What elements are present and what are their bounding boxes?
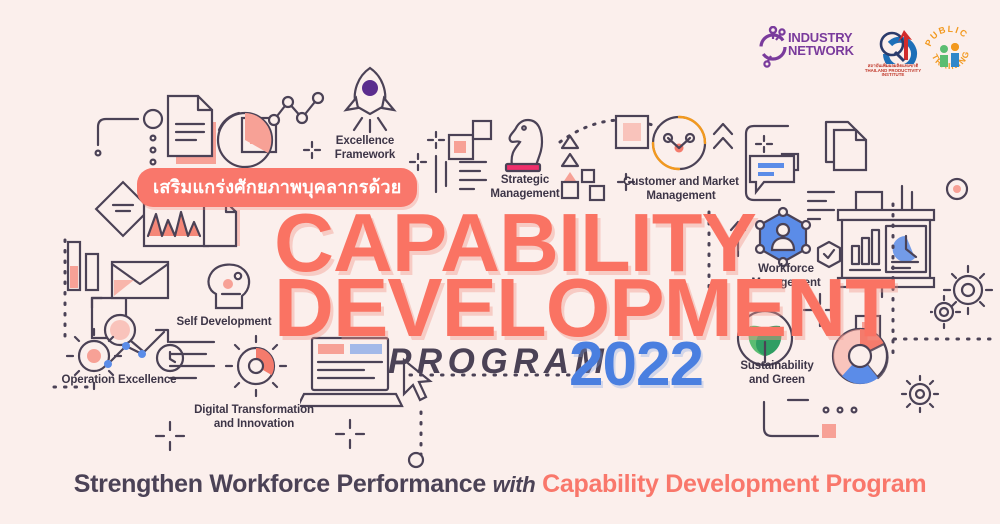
chess-knight-icon: [490, 110, 560, 182]
chat-bubble-icon: [742, 148, 806, 200]
capability-development-banner: Excellence Framework Strategic Managemen…: [0, 0, 1000, 524]
svg-text:PUBLIC: PUBLIC: [923, 24, 970, 48]
public-training-logo: PUBLIC TRAINING: [922, 22, 978, 81]
workforce-person-hub-icon: [748, 204, 818, 268]
dots-row-icon: [818, 396, 874, 444]
institute-logo: สถาบันเพิ่มผลผลิตแห่งชาติ THAILAND PRODU…: [864, 24, 922, 69]
crosshair-dash-icon: [330, 414, 370, 454]
institute-logo-text: สถาบันเพิ่มผลผลิตแห่งชาติ THAILAND PRODU…: [864, 64, 922, 78]
dotted-vertical-line-icon: [56, 236, 74, 346]
circle-node-icon: [404, 448, 428, 472]
tagline-part2: Capability Development Program: [542, 470, 926, 498]
bottom-tagline: Strengthen Workforce Performance with Ca…: [0, 470, 1000, 499]
label-excellence-framework: Excellence Framework: [327, 135, 403, 162]
logo-row: INDUSTRY NETWORK สถาบันเพิ่มผลผลิตแห่งชา…: [752, 14, 992, 76]
label-self-development: Self Development: [166, 316, 282, 330]
productivity-institute-mark-icon: [864, 24, 922, 64]
dotted-horizontal-line-icon: [890, 330, 1000, 348]
label-operation-excellence: Operation Excellence: [55, 374, 183, 388]
head-profile-idea-icon: [198, 250, 268, 320]
industry-network-logo-text: INDUSTRY NETWORK: [788, 32, 854, 57]
zigzag-node-line-icon: [268, 88, 338, 140]
customer-network-hub-icon: [644, 108, 714, 178]
circle-dot-icon: [940, 172, 974, 206]
small-gear-icon: [898, 372, 942, 416]
envelope-icon: [104, 252, 178, 306]
svg-text:TRAINING: TRAINING: [930, 49, 971, 71]
rocket-launch-icon: [336, 60, 406, 140]
industry-network-logo: INDUSTRY NETWORK: [756, 26, 790, 73]
label-digital-transformation-and-innovation: Digital Transformation and Innovation: [179, 404, 329, 431]
tagline-connector: with: [493, 472, 536, 497]
gear-network-icon: [756, 26, 790, 68]
public-training-mark-icon: PUBLIC TRAINING: [922, 22, 978, 76]
gears-pair-icon: [930, 262, 1000, 332]
crosshair-dash-icon: [300, 138, 324, 162]
label-sustainability-and-green: Sustainability and Green: [729, 360, 825, 387]
headline-year: 2022: [569, 329, 703, 400]
copy-documents-icon: [812, 108, 874, 178]
tagline-part1: Strengthen Workforce Performance: [74, 470, 486, 498]
double-chevron-up-icon: [706, 112, 740, 160]
